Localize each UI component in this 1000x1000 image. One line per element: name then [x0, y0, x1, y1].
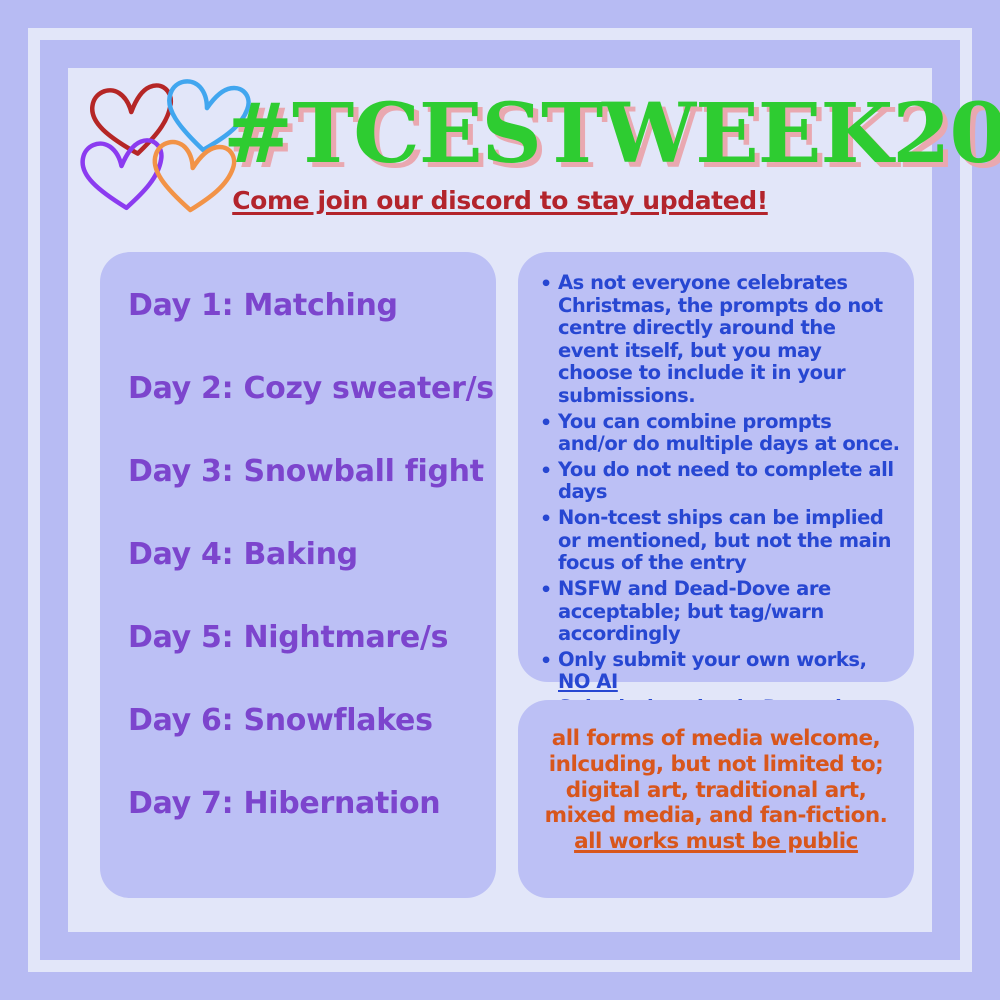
media-line: all forms of media welcome, [528, 726, 904, 752]
bullet-icon: • [540, 579, 552, 601]
list-item: Day 3: Snowball fight [100, 454, 496, 489]
rule-text: Only submit your own works, [558, 648, 867, 671]
poster-root: #TCESTWEEK2024 Come join our discord to … [0, 0, 1000, 1000]
bullet-icon: • [540, 460, 552, 482]
list-item: Day 2: Cozy sweater/s [100, 371, 496, 406]
discord-invite-text[interactable]: Come join our discord to stay updated! [68, 186, 932, 215]
days-panel: Day 1: Matching Day 2: Cozy sweater/s Da… [100, 252, 496, 898]
media-panel: all forms of media welcome,inlcuding, bu… [518, 700, 914, 898]
poster-header: #TCESTWEEK2024 Come join our discord to … [68, 68, 932, 238]
media-line: all works must be public [528, 829, 904, 855]
rule-emphasis: NO AI [558, 670, 618, 693]
rule-text: You do not need to complete all days [558, 458, 894, 504]
bullet-icon: • [540, 508, 552, 530]
list-item: •You can combine prompts and/or do multi… [536, 411, 900, 456]
media-line: mixed media, and fan-fiction. [528, 803, 904, 829]
rules-panel: •As not everyone celebrates Christmas, t… [518, 252, 914, 682]
list-item: Day 5: Nightmare/s [100, 620, 496, 655]
page-title: #TCESTWEEK2024 [223, 93, 1000, 175]
rule-text: You can combine prompts and/or do multip… [558, 410, 900, 456]
bullet-icon: • [540, 650, 552, 672]
days-list: Day 1: Matching Day 2: Cozy sweater/s Da… [100, 252, 496, 821]
bullet-icon: • [540, 273, 552, 295]
bullet-icon: • [540, 412, 552, 434]
media-line: digital art, traditional art, [528, 778, 904, 804]
list-item: •Non-tcest ships can be implied or menti… [536, 507, 900, 575]
list-item: Day 1: Matching [100, 288, 496, 323]
media-line: inlcuding, but not limited to; [528, 752, 904, 778]
poster-content: #TCESTWEEK2024 Come join our discord to … [68, 68, 932, 932]
rules-list: •As not everyone celebrates Christmas, t… [518, 252, 914, 742]
list-item: •Only submit your own works, NO AI [536, 649, 900, 694]
list-item: Day 7: Hibernation [100, 786, 496, 821]
list-item: Day 6: Snowflakes [100, 703, 496, 738]
list-item: •NSFW and Dead-Dove are acceptable; but … [536, 578, 900, 646]
rule-text: Non-tcest ships can be implied or mentio… [558, 506, 891, 574]
rule-text: NSFW and Dead-Dove are acceptable; but t… [558, 577, 831, 645]
list-item: Day 4: Baking [100, 537, 496, 572]
list-item: •As not everyone celebrates Christmas, t… [536, 272, 900, 408]
media-text: all forms of media welcome,inlcuding, bu… [518, 700, 914, 855]
rule-text: As not everyone celebrates Christmas, th… [558, 271, 883, 407]
list-item: •You do not need to complete all days [536, 459, 900, 504]
